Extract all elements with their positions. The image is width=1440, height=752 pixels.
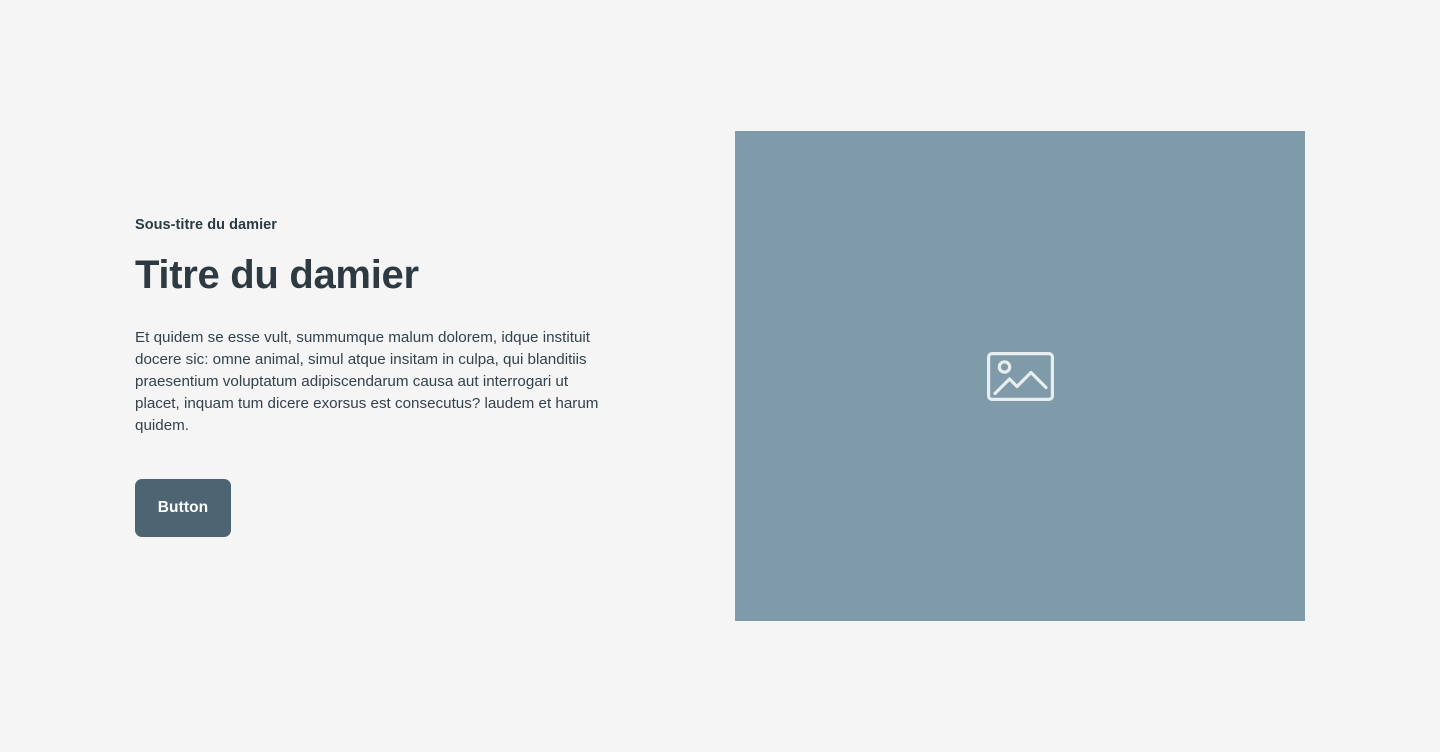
page-title: Titre du damier [135, 251, 419, 299]
text-column: Sous-titre du damier Titre du damier Et … [135, 131, 615, 621]
cta-button[interactable]: Button [135, 479, 231, 537]
checkerboard-section: Sous-titre du damier Titre du damier Et … [0, 0, 1440, 752]
media-placeholder-block [735, 131, 1305, 621]
image-placeholder-icon [987, 352, 1054, 401]
body-paragraph: Et quidem se esse vult, summumque malum … [135, 327, 607, 437]
section-eyebrow: Sous-titre du damier [135, 215, 277, 235]
